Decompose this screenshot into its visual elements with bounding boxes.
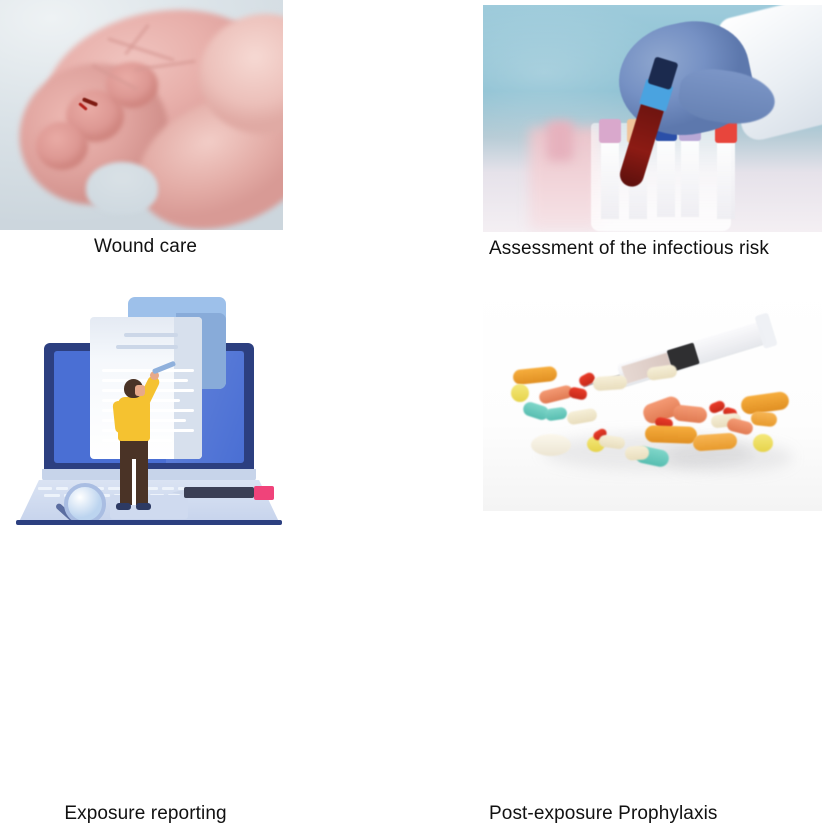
photo-blood-sample-tubes [483,5,822,232]
illustration-laptop-form-reporting [16,287,281,517]
panel-post-exposure-prophylaxis: Post-exposure Prophylaxis [411,279,822,558]
panel-exposure-reporting: Exposure reporting [0,279,411,558]
pen-icon [184,487,254,498]
panel-wound-care: Wound care [0,0,411,279]
photo-pills-and-syringe [483,284,822,511]
panel-infectious-risk-assessment: Assessment of the infectious risk [411,0,822,279]
figure-panel-grid: Wound care Assessment of the infectious … [0,0,822,558]
panel-caption-infectious-risk: Assessment of the infectious risk [489,238,822,260]
laptop-hinge [42,469,256,481]
magnifier-icon [64,483,106,525]
hand-graphic [14,4,283,230]
panel-caption-wound-care: Wound care [0,236,411,258]
panel-caption-exposure-reporting: Exposure reporting [0,803,411,825]
panel-caption-post-exposure-prophylaxis: Post-exposure Prophylaxis [489,803,822,825]
photo-wounded-hand [0,0,283,230]
